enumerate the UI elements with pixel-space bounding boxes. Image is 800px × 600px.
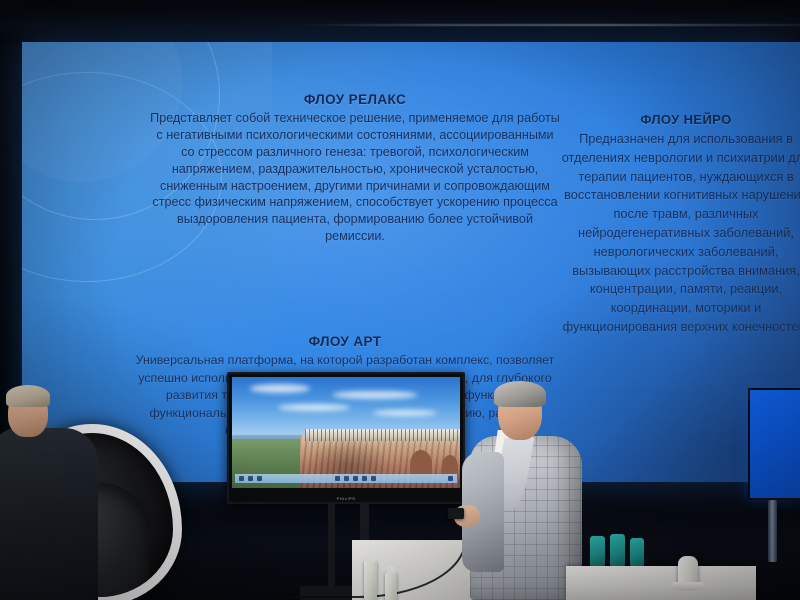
teal-folder[interactable] [590, 536, 605, 566]
search-icon[interactable] [248, 476, 253, 481]
mail-icon[interactable] [353, 476, 358, 481]
slide-neuro-title: ФЛОУ НЕЙРО [554, 112, 800, 127]
media-icon[interactable] [371, 476, 376, 481]
display-brand-logo: PHILIPS [337, 496, 356, 501]
slide-relax-body: Представляет собой техническое решение, … [150, 110, 560, 245]
left-person-hair [6, 385, 50, 407]
mobile-phone[interactable] [448, 508, 464, 519]
stage-backdrop [0, 0, 800, 46]
folder-icon[interactable] [335, 476, 340, 481]
wallpaper-cloud [278, 404, 350, 411]
slide-relax-title: ФЛОУ РЕЛАКС [150, 92, 560, 107]
white-cylinder-base [672, 582, 704, 589]
wallpaper-town [305, 429, 460, 441]
spray-bottle[interactable] [385, 572, 397, 600]
slide-block-relax: ФЛОУ РЕЛАКС Представляет собой техническ… [150, 92, 560, 245]
slide-neuro-body: Предназначен для использования в отделен… [554, 130, 800, 337]
task-view-icon[interactable] [257, 476, 262, 481]
teal-folder[interactable] [610, 534, 625, 566]
left-person-body [0, 428, 98, 600]
browser-icon[interactable] [344, 476, 349, 481]
teal-folder[interactable] [630, 538, 644, 566]
start-icon[interactable] [239, 476, 244, 481]
right-monitor-stand [768, 500, 777, 562]
wall-display: PHILIPS [227, 372, 465, 504]
photo-scene: ФЛОУ РЕЛАКС Представляет собой техническ… [0, 0, 800, 600]
wall-seam [300, 24, 800, 26]
wallpaper-cloud [250, 384, 310, 393]
tray-icon[interactable] [448, 476, 453, 481]
sanitizer-bottle[interactable] [364, 560, 377, 600]
right-blue-monitor [748, 388, 800, 500]
foreground-table [566, 566, 756, 600]
display-screen [232, 377, 460, 488]
windows-taskbar[interactable] [235, 474, 457, 483]
spray-bottle-cap [387, 566, 395, 573]
sanitizer-bottle-cap [366, 554, 375, 562]
presenter-hair [494, 381, 546, 407]
slide-art-title: ФЛОУ АРТ [130, 334, 560, 349]
slide-block-neuro: ФЛОУ НЕЙРО Предназначен для использовани… [554, 112, 800, 337]
store-icon[interactable] [362, 476, 367, 481]
